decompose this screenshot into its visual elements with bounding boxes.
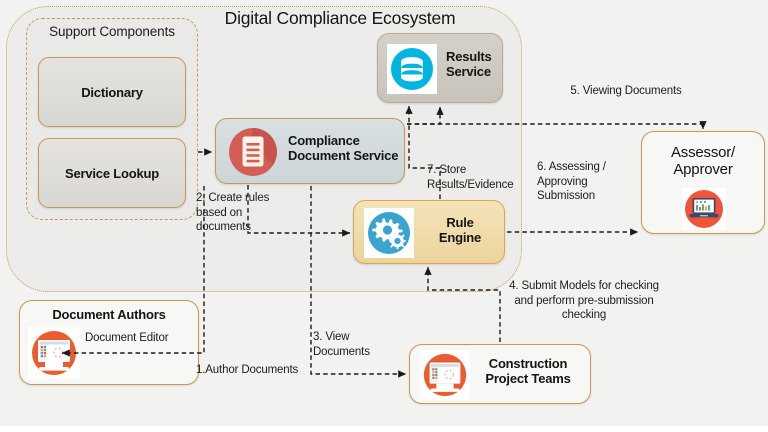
- diagram-canvas: Support Components Dictionary Service Lo…: [0, 0, 768, 432]
- wire-1-author-documents: [62, 186, 204, 353]
- step-6-caption: 6. Assessing / Approving Submission: [537, 160, 641, 204]
- step-1-caption: 1.Author Documents: [196, 363, 306, 378]
- canvas-bottom-band: [0, 426, 768, 432]
- wire-5-viewing-documents: [407, 124, 703, 129]
- connectors: [0, 0, 768, 432]
- step-7-caption: 7. Store Results/Evidence: [427, 163, 539, 192]
- step-4-caption: 4. Submit Models for checking and perfor…: [504, 279, 664, 323]
- wire-compliance-to-results: [407, 107, 440, 124]
- step-3-caption: 3. View Documents: [313, 330, 409, 359]
- step-5-caption: 5. Viewing Documents: [566, 84, 686, 99]
- step-2-caption: 2. Create rules based on documents: [196, 191, 298, 235]
- wire-4-submit-models: [428, 267, 500, 342]
